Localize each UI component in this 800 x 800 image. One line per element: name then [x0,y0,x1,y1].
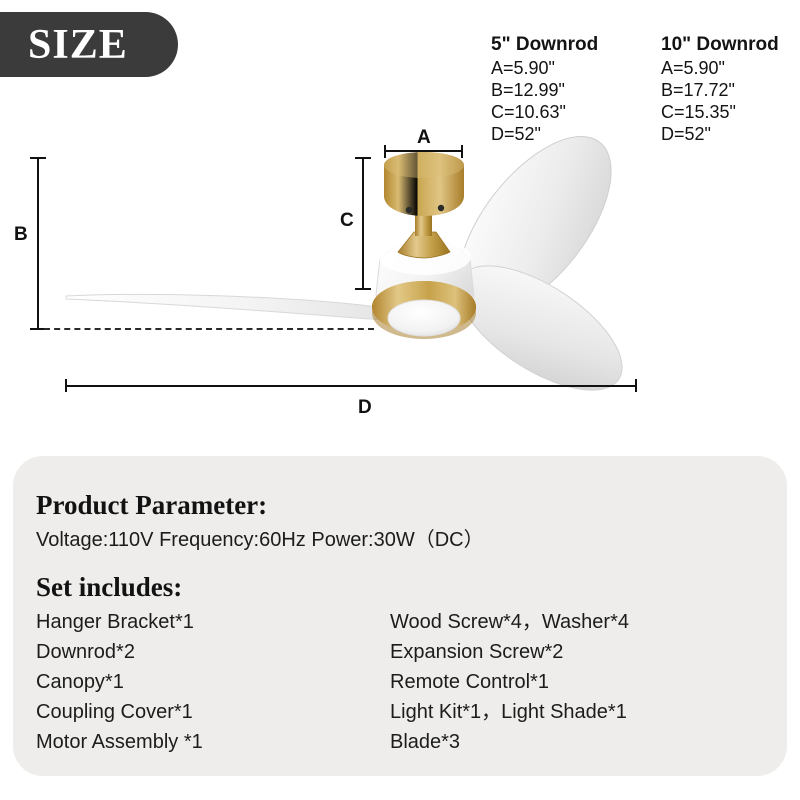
dimension-line-a [384,150,463,152]
list-item: Expansion Screw*2 [390,637,629,667]
dimension-cap-c-top [355,157,371,159]
dimension-label-b: B [14,225,28,244]
fan-blade-left [66,294,420,320]
dimension-line-d [65,385,637,387]
reference-line-blade-plane [44,328,374,330]
list-item: Coupling Cover*1 [36,697,203,727]
list-item: Light Kit*1，Light Shade*1 [390,697,629,727]
set-includes-heading: Set includes: [36,574,182,601]
dimension-label-a: A [417,128,431,147]
dimension-cap-a-right [461,145,463,158]
dimension-cap-b-top [30,157,46,159]
list-item: Hanger Bracket*1 [36,607,203,637]
dimension-cap-a-left [384,145,386,158]
product-parameter-line: Voltage:110V Frequency:60Hz Power:30W（DC… [36,530,484,550]
dimension-cap-d-right [635,379,637,392]
list-item: Blade*3 [390,727,629,757]
dimension-cap-c-bottom [355,288,371,290]
dimension-line-b [37,158,39,330]
list-item: Wood Screw*4，Washer*4 [390,607,629,637]
list-item: Downrod*2 [36,637,203,667]
fan-light-shade [388,300,460,336]
product-parameter-heading: Product Parameter: [36,492,267,519]
dimension-label-c: C [340,211,354,230]
ceiling-fan-illustration [0,0,800,440]
list-item: Remote Control*1 [390,667,629,697]
fan-canopy [384,152,464,216]
list-item: Canopy*1 [36,667,203,697]
set-includes-column-left: Hanger Bracket*1 Downrod*2 Canopy*1 Coup… [36,607,203,757]
dimension-line-c [362,158,364,290]
dimension-label-d: D [358,398,372,417]
list-item: Motor Assembly *1 [36,727,203,757]
fan-dimension-diagram: B C A D [0,0,800,440]
dimension-cap-d-left [65,379,67,392]
set-includes-column-right: Wood Screw*4，Washer*4 Expansion Screw*2 … [390,607,629,757]
size-infographic-page: SIZE 5" Downrod A=5.90" B=12.99" C=10.63… [0,0,800,800]
